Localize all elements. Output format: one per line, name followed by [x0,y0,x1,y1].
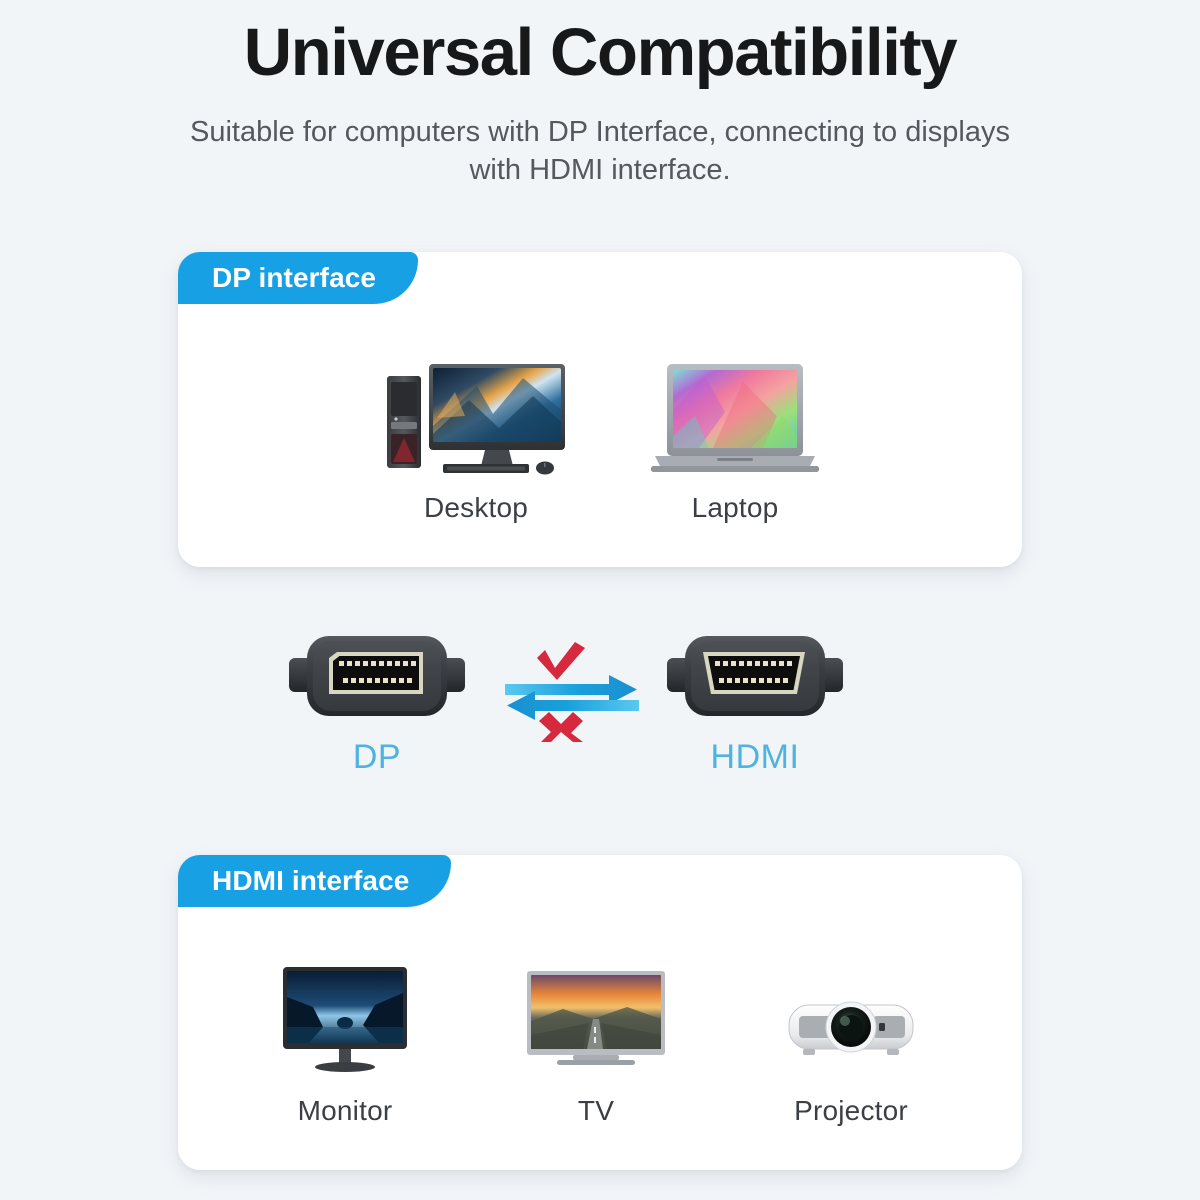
hdmi-connector-group: HDMI [665,630,845,777]
displayport-connector-icon [289,630,465,722]
hdmi-connector-label: HDMI [711,738,800,777]
check-mark-icon [537,642,585,680]
dp-interface-badge: DP interface [178,252,418,304]
device-item-laptop: Laptop [651,348,819,524]
monitor-icon [279,951,411,1079]
device-label-tv: TV [578,1095,614,1127]
dp-device-list: Desktop [178,304,1022,567]
device-label-desktop: Desktop [424,492,528,524]
direction-indicator [497,642,647,742]
dp-connector-group: DP [287,630,467,777]
projector-icon [781,951,921,1079]
hdmi-interface-badge: HDMI interface [178,855,451,907]
connector-band: DP [0,630,1200,805]
hdmi-device-list: Monitor [178,907,1022,1170]
device-item-tv: TV [523,951,669,1127]
laptop-icon [651,348,819,476]
device-item-desktop: Desktop [381,348,571,524]
page-subtitle: Suitable for computers with DP Interface… [165,113,1035,190]
device-item-projector: Projector [781,951,921,1127]
dp-interface-card: DP interface [178,252,1022,567]
dp-connector-label: DP [353,738,401,777]
device-label-projector: Projector [794,1095,908,1127]
page-title: Universal Compatibility [0,14,1200,91]
hdmi-connector-icon [667,630,843,722]
hdmi-interface-card: HDMI interface [178,855,1022,1170]
tv-icon [523,951,669,1079]
device-item-monitor: Monitor [279,951,411,1127]
desktop-computer-icon [381,348,571,476]
cross-mark-icon [539,712,583,742]
device-label-laptop: Laptop [692,492,779,524]
header: Universal Compatibility Suitable for com… [0,0,1200,190]
device-label-monitor: Monitor [298,1095,393,1127]
